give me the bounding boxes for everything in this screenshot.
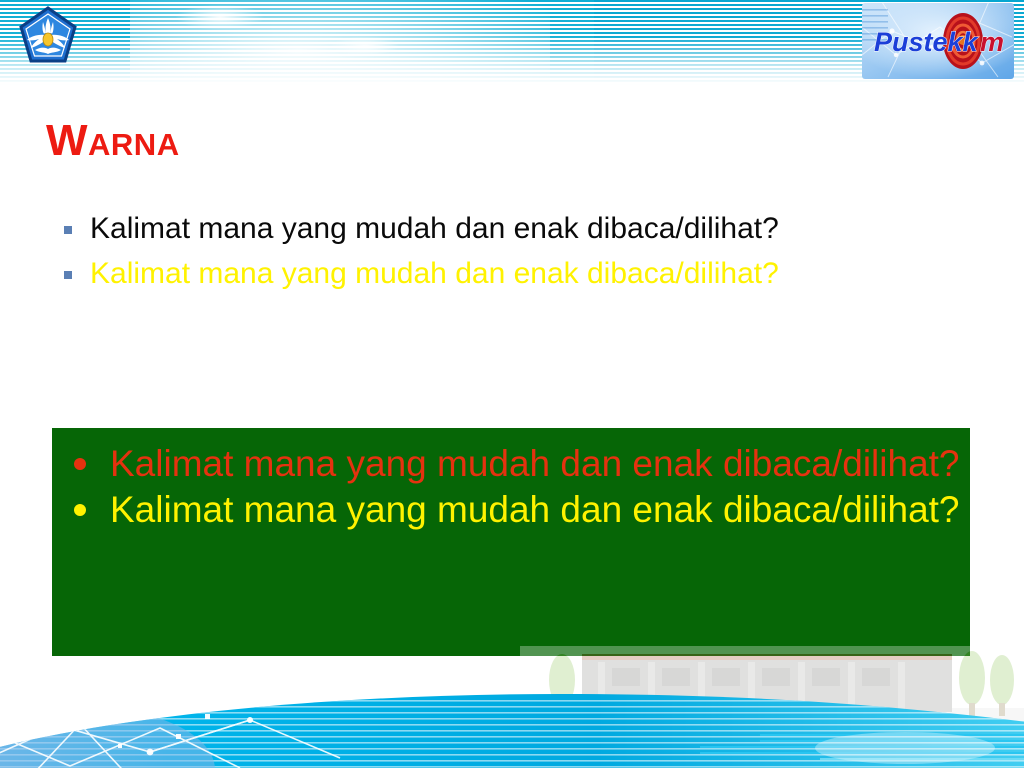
list-item-label: Kalimat mana yang mudah dan enak dibaca/… [110,489,960,530]
list-item-label: Kalimat mana yang mudah dan enak dibaca/… [90,257,779,290]
slide-canvas: Pustekk m Warna Kalimat mana yang mudah … [0,0,1024,768]
banner-sparkle-1 [175,4,265,30]
pustekkom-wordmark-suffix: m [980,27,1004,57]
list-item: Kalimat mana yang mudah dan enak dibaca/… [52,488,970,532]
plain-bullet-list: Kalimat mana yang mudah dan enak dibaca/… [58,212,838,302]
list-item: Kalimat mana yang mudah dan enak dibaca/… [58,257,838,292]
list-item-label: Kalimat mana yang mudah dan enak dibaca/… [90,212,779,245]
green-contrast-panel: Kalimat mana yang mudah dan enak dibaca/… [52,428,970,656]
pustekkom-wordmark-prefix: Pustekk [874,27,980,57]
footer-wave-decoration [0,648,1024,768]
round-bullet-icon [74,458,86,470]
square-bullet-icon [64,271,72,279]
banner-sparkle-2 [330,36,400,56]
page-title: Warna [46,118,180,164]
round-bullet-icon [74,504,86,516]
list-item-label: Kalimat mana yang mudah dan enak dibaca/… [110,443,960,484]
list-item: Kalimat mana yang mudah dan enak dibaca/… [52,442,970,486]
pustekkom-logo: Pustekk m [862,3,1014,79]
tut-wuri-handayani-emblem-icon [17,6,79,70]
square-bullet-icon [64,226,72,234]
list-item: Kalimat mana yang mudah dan enak dibaca/… [58,212,838,247]
